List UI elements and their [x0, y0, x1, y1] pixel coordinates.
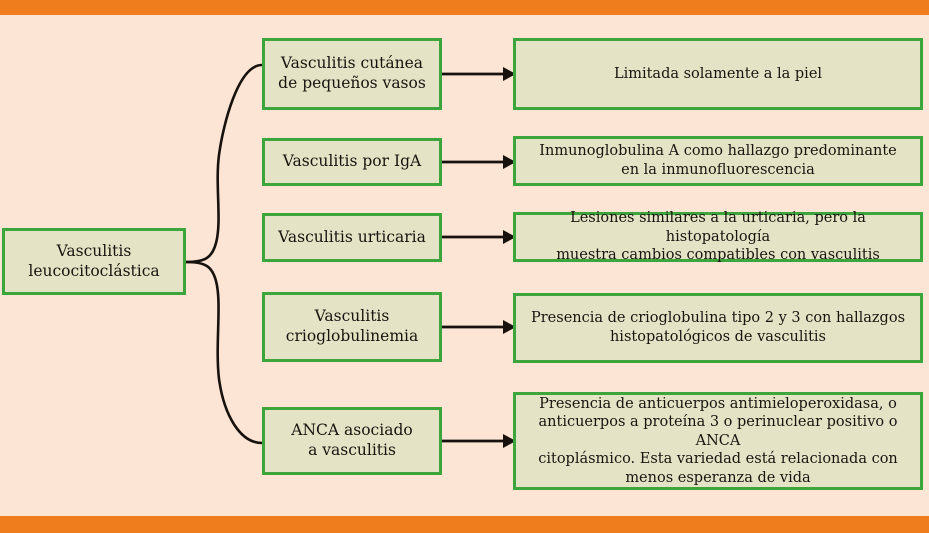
description-line3: citoplásmico. Esta variedad está relacio…: [522, 450, 914, 469]
node-root[interactable]: Vasculitis leucocitoclástica: [2, 228, 186, 295]
branch-name-line2: crioglobulinemia: [286, 327, 418, 347]
branch-name-line1: Vasculitis cutánea: [278, 54, 426, 74]
arrow-row-1: [442, 67, 516, 81]
node-root-line2: leucocitoclástica: [28, 262, 159, 282]
node-branch-urticaria[interactable]: Vasculitis urticaria: [262, 213, 442, 262]
top-accent-bar: [0, 0, 929, 15]
node-description-iga[interactable]: Inmunoglobulina A como hallazgo predomin…: [513, 136, 923, 186]
description-line1: Limitada solamente a la piel: [614, 65, 822, 84]
branch-name-line2: a vasculitis: [291, 441, 412, 461]
description-line2: muestra cambios compatibles con vasculit…: [522, 246, 914, 265]
description-line2: anticuerpos a proteína 3 o perinuclear p…: [522, 413, 914, 450]
arrow-row-4: [442, 320, 516, 334]
node-root-line1: Vasculitis: [28, 242, 159, 262]
node-branch-crioglobulinemia[interactable]: Vasculitis crioglobulinemia: [262, 292, 442, 362]
branch-name-line1: ANCA asociado: [291, 421, 412, 441]
description-line1: Presencia de crioglobulina tipo 2 y 3 co…: [531, 309, 905, 328]
node-description-crioglobulinemia[interactable]: Presencia de crioglobulina tipo 2 y 3 co…: [513, 293, 923, 363]
node-branch-iga[interactable]: Vasculitis por IgA: [262, 138, 442, 186]
diagram-canvas: Vasculitis leucocitoclástica Vasculitis …: [0, 15, 929, 516]
description-line1: Inmunoglobulina A como hallazgo predomin…: [539, 142, 896, 161]
branch-name-line1: Vasculitis: [286, 307, 418, 327]
description-line1: Presencia de anticuerpos antimieloperoxi…: [522, 395, 914, 414]
branch-name-line1: Vasculitis por IgA: [283, 152, 421, 172]
description-line2: en la inmunofluorescencia: [539, 161, 896, 180]
node-description-urticaria[interactable]: Lesiones similares a la urticaria, pero …: [513, 212, 923, 262]
arrow-row-3: [442, 230, 516, 244]
bottom-accent-bar: [0, 516, 929, 533]
description-line4: menos esperanza de vida: [522, 469, 914, 488]
branch-name-line1: Vasculitis urticaria: [278, 228, 426, 248]
node-branch-cutanea[interactable]: Vasculitis cutánea de pequeños vasos: [262, 38, 442, 110]
diagram-page: Vasculitis leucocitoclástica Vasculitis …: [0, 0, 929, 533]
node-description-cutanea[interactable]: Limitada solamente a la piel: [513, 38, 923, 110]
description-line1: Lesiones similares a la urticaria, pero …: [522, 209, 914, 246]
description-line2: histopatológicos de vasculitis: [531, 328, 905, 347]
arrow-row-2: [442, 155, 516, 169]
arrow-row-5: [442, 434, 516, 448]
branch-name-line2: de pequeños vasos: [278, 74, 426, 94]
node-description-anca[interactable]: Presencia de anticuerpos antimieloperoxi…: [513, 392, 923, 490]
node-branch-anca[interactable]: ANCA asociado a vasculitis: [262, 407, 442, 475]
